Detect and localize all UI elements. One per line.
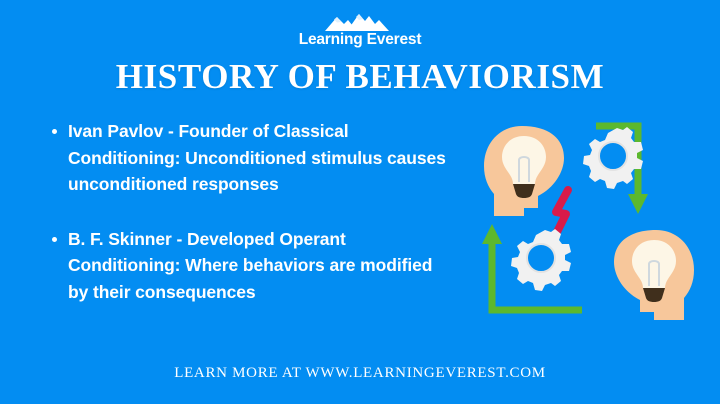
brand-logo[interactable]: Learning Everest xyxy=(0,10,720,52)
illustration-svg xyxy=(478,112,700,324)
gear-bottom-left-icon xyxy=(511,229,571,291)
mountain-logo-icon xyxy=(317,10,403,31)
head-bottom-right-icon xyxy=(614,230,694,320)
brand-name: Learning Everest xyxy=(299,32,422,48)
list-item: Ivan Pavlov - Founder of Classical Condi… xyxy=(52,118,472,198)
bullet-dot-icon xyxy=(52,129,57,134)
bullet-text: Ivan Pavlov - Founder of Classical Condi… xyxy=(68,118,448,198)
bullet-list: Ivan Pavlov - Founder of Classical Condi… xyxy=(52,118,472,306)
gear-top-right-icon xyxy=(583,127,643,189)
behaviorism-illustration xyxy=(478,112,700,324)
head-top-left-icon xyxy=(484,126,564,216)
slide-canvas: Learning Everest HISTORY OF BEHAVIORISM … xyxy=(0,0,720,404)
bullet-dot-icon xyxy=(52,237,57,242)
footer-url[interactable]: LEARN MORE AT WWW.LEARNINGEVEREST.COM xyxy=(0,364,720,382)
bullet-text: B. F. Skinner - Developed Operant Condit… xyxy=(68,226,448,306)
list-item: B. F. Skinner - Developed Operant Condit… xyxy=(52,226,472,306)
page-title: HISTORY OF BEHAVIORISM xyxy=(0,58,720,97)
